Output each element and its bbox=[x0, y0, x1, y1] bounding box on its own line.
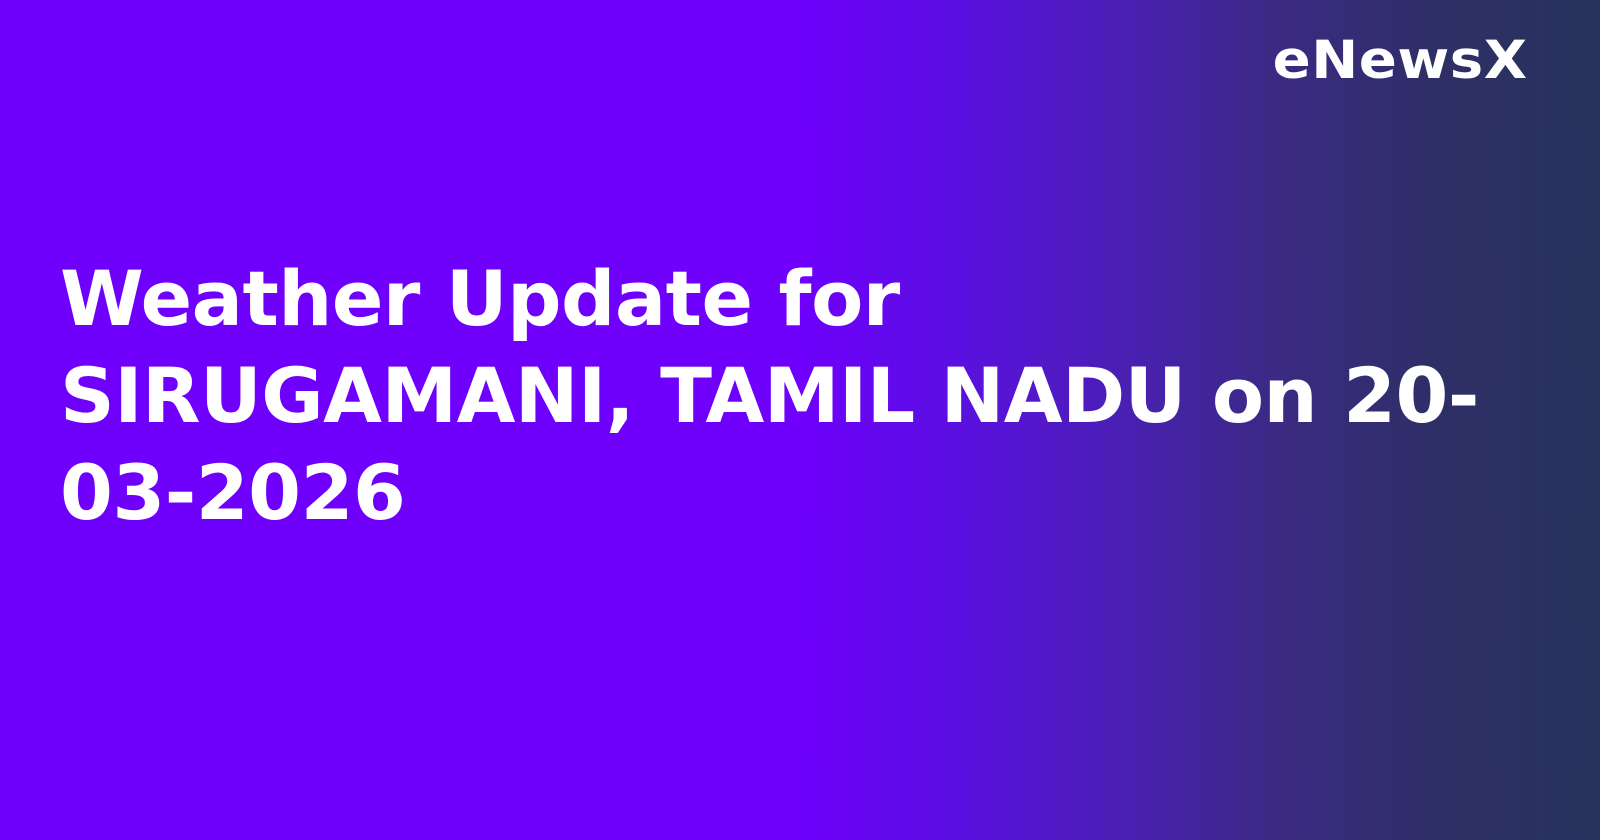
brand-header: eNewsX bbox=[0, 0, 1600, 120]
news-banner-card: eNewsX Weather Update for SIRUGAMANI, TA… bbox=[0, 0, 1600, 840]
headline-container: Weather Update for SIRUGAMANI, TAMIL NAD… bbox=[60, 250, 1490, 541]
page-title: Weather Update for SIRUGAMANI, TAMIL NAD… bbox=[60, 250, 1490, 541]
enewsx-logo[interactable]: eNewsX bbox=[1273, 34, 1528, 87]
